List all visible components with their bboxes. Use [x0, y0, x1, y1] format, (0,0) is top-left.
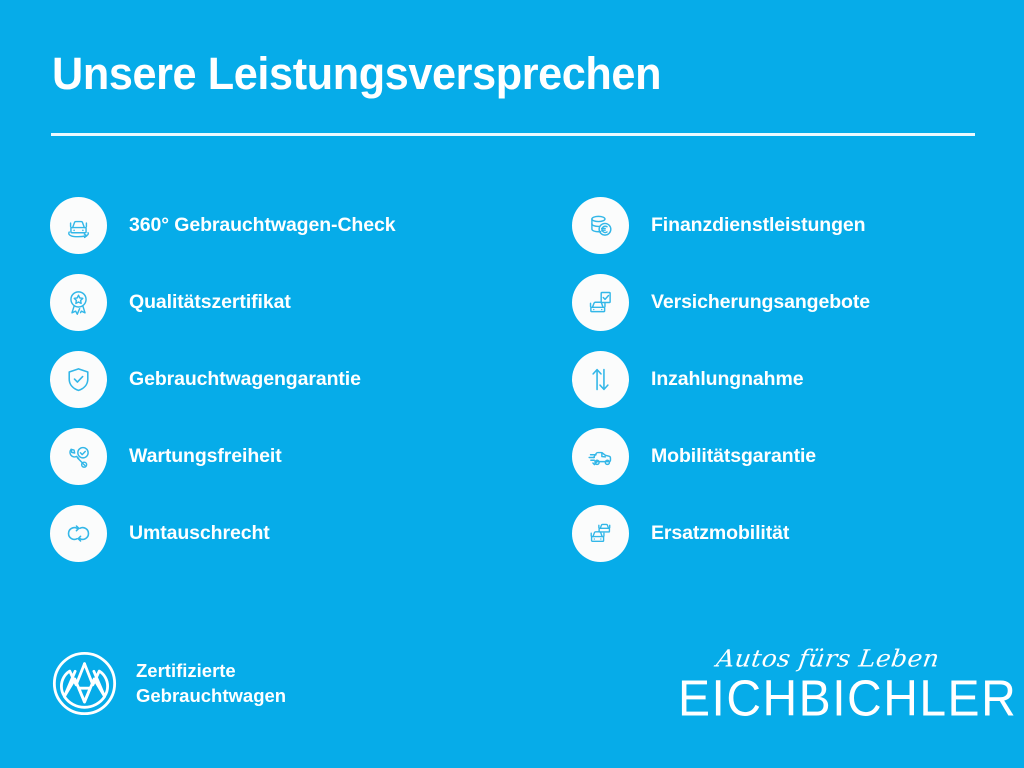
feature-item-gebrauchtwagengarantie[interactable]: Gebrauchtwagengarantie [50, 350, 480, 408]
feature-item-versicherungsangebote[interactable]: Versicherungsangebote [572, 273, 1002, 331]
feature-item-qualitaetszertifikat[interactable]: Qualitätszertifikat [50, 273, 480, 331]
feature-label: Ersatzmobilität [651, 522, 789, 545]
dealer-name: EICHBICHLER [678, 673, 978, 726]
feature-label: Finanzdienstleistungen [651, 214, 865, 237]
feature-item-mobilitaetsgarantie[interactable]: Mobilitätsgarantie [572, 427, 1002, 485]
feature-label: Gebrauchtwagengarantie [129, 368, 361, 391]
vw-certified-badge: Zertifizierte Gebrauchtwagen [51, 650, 286, 717]
promo-slide: Unsere Leistungsversprechen 360° Gebrauc… [0, 0, 1024, 768]
vw-caption: Zertifizierte Gebrauchtwagen [136, 659, 286, 708]
award-rosette-icon [50, 274, 107, 331]
feature-label: Umtauschrecht [129, 522, 270, 545]
feature-item-ersatzmobilitaet[interactable]: Ersatzmobilität [572, 504, 1002, 562]
feature-item-360-check[interactable]: 360° Gebrauchtwagen-Check [50, 196, 480, 254]
two-cars-icon [572, 505, 629, 562]
feature-label: Inzahlungnahme [651, 368, 803, 391]
feature-label: 360° Gebrauchtwagen-Check [129, 214, 395, 237]
volkswagen-logo-icon [51, 650, 118, 717]
wrench-check-icon [50, 428, 107, 485]
feature-item-umtauschrecht[interactable]: Umtauschrecht [50, 504, 480, 562]
coins-euro-icon [572, 197, 629, 254]
feature-label: Wartungsfreiheit [129, 445, 282, 468]
title-divider [51, 133, 975, 136]
feature-label: Versicherungsangebote [651, 291, 870, 314]
feature-label: Qualitätszertifikat [129, 291, 291, 314]
vw-caption-line2: Gebrauchtwagen [136, 684, 286, 708]
car-motion-icon [572, 428, 629, 485]
dealer-slogan: Autos fürs Leben [676, 647, 979, 671]
car-360-check-icon [50, 197, 107, 254]
feature-column-left: 360° Gebrauchtwagen-Check Qualitätszerti… [50, 196, 480, 581]
feature-item-finanzdienstleistungen[interactable]: Finanzdienstleistungen [572, 196, 1002, 254]
dealer-logo: Autos fürs Leben EICHBICHLER [678, 646, 978, 723]
feature-item-inzahlungnahme[interactable]: Inzahlungnahme [572, 350, 1002, 408]
feature-column-right: Finanzdienstleistungen Versicherungsange… [572, 196, 1002, 581]
car-document-check-icon [572, 274, 629, 331]
shield-check-icon [50, 351, 107, 408]
arrows-up-down-icon [572, 351, 629, 408]
page-title: Unsere Leistungsversprechen [52, 50, 916, 99]
exchange-arrows-icon [50, 505, 107, 562]
feature-item-wartungsfreiheit[interactable]: Wartungsfreiheit [50, 427, 480, 485]
vw-caption-line1: Zertifizierte [136, 659, 286, 683]
feature-label: Mobilitätsgarantie [651, 445, 816, 468]
